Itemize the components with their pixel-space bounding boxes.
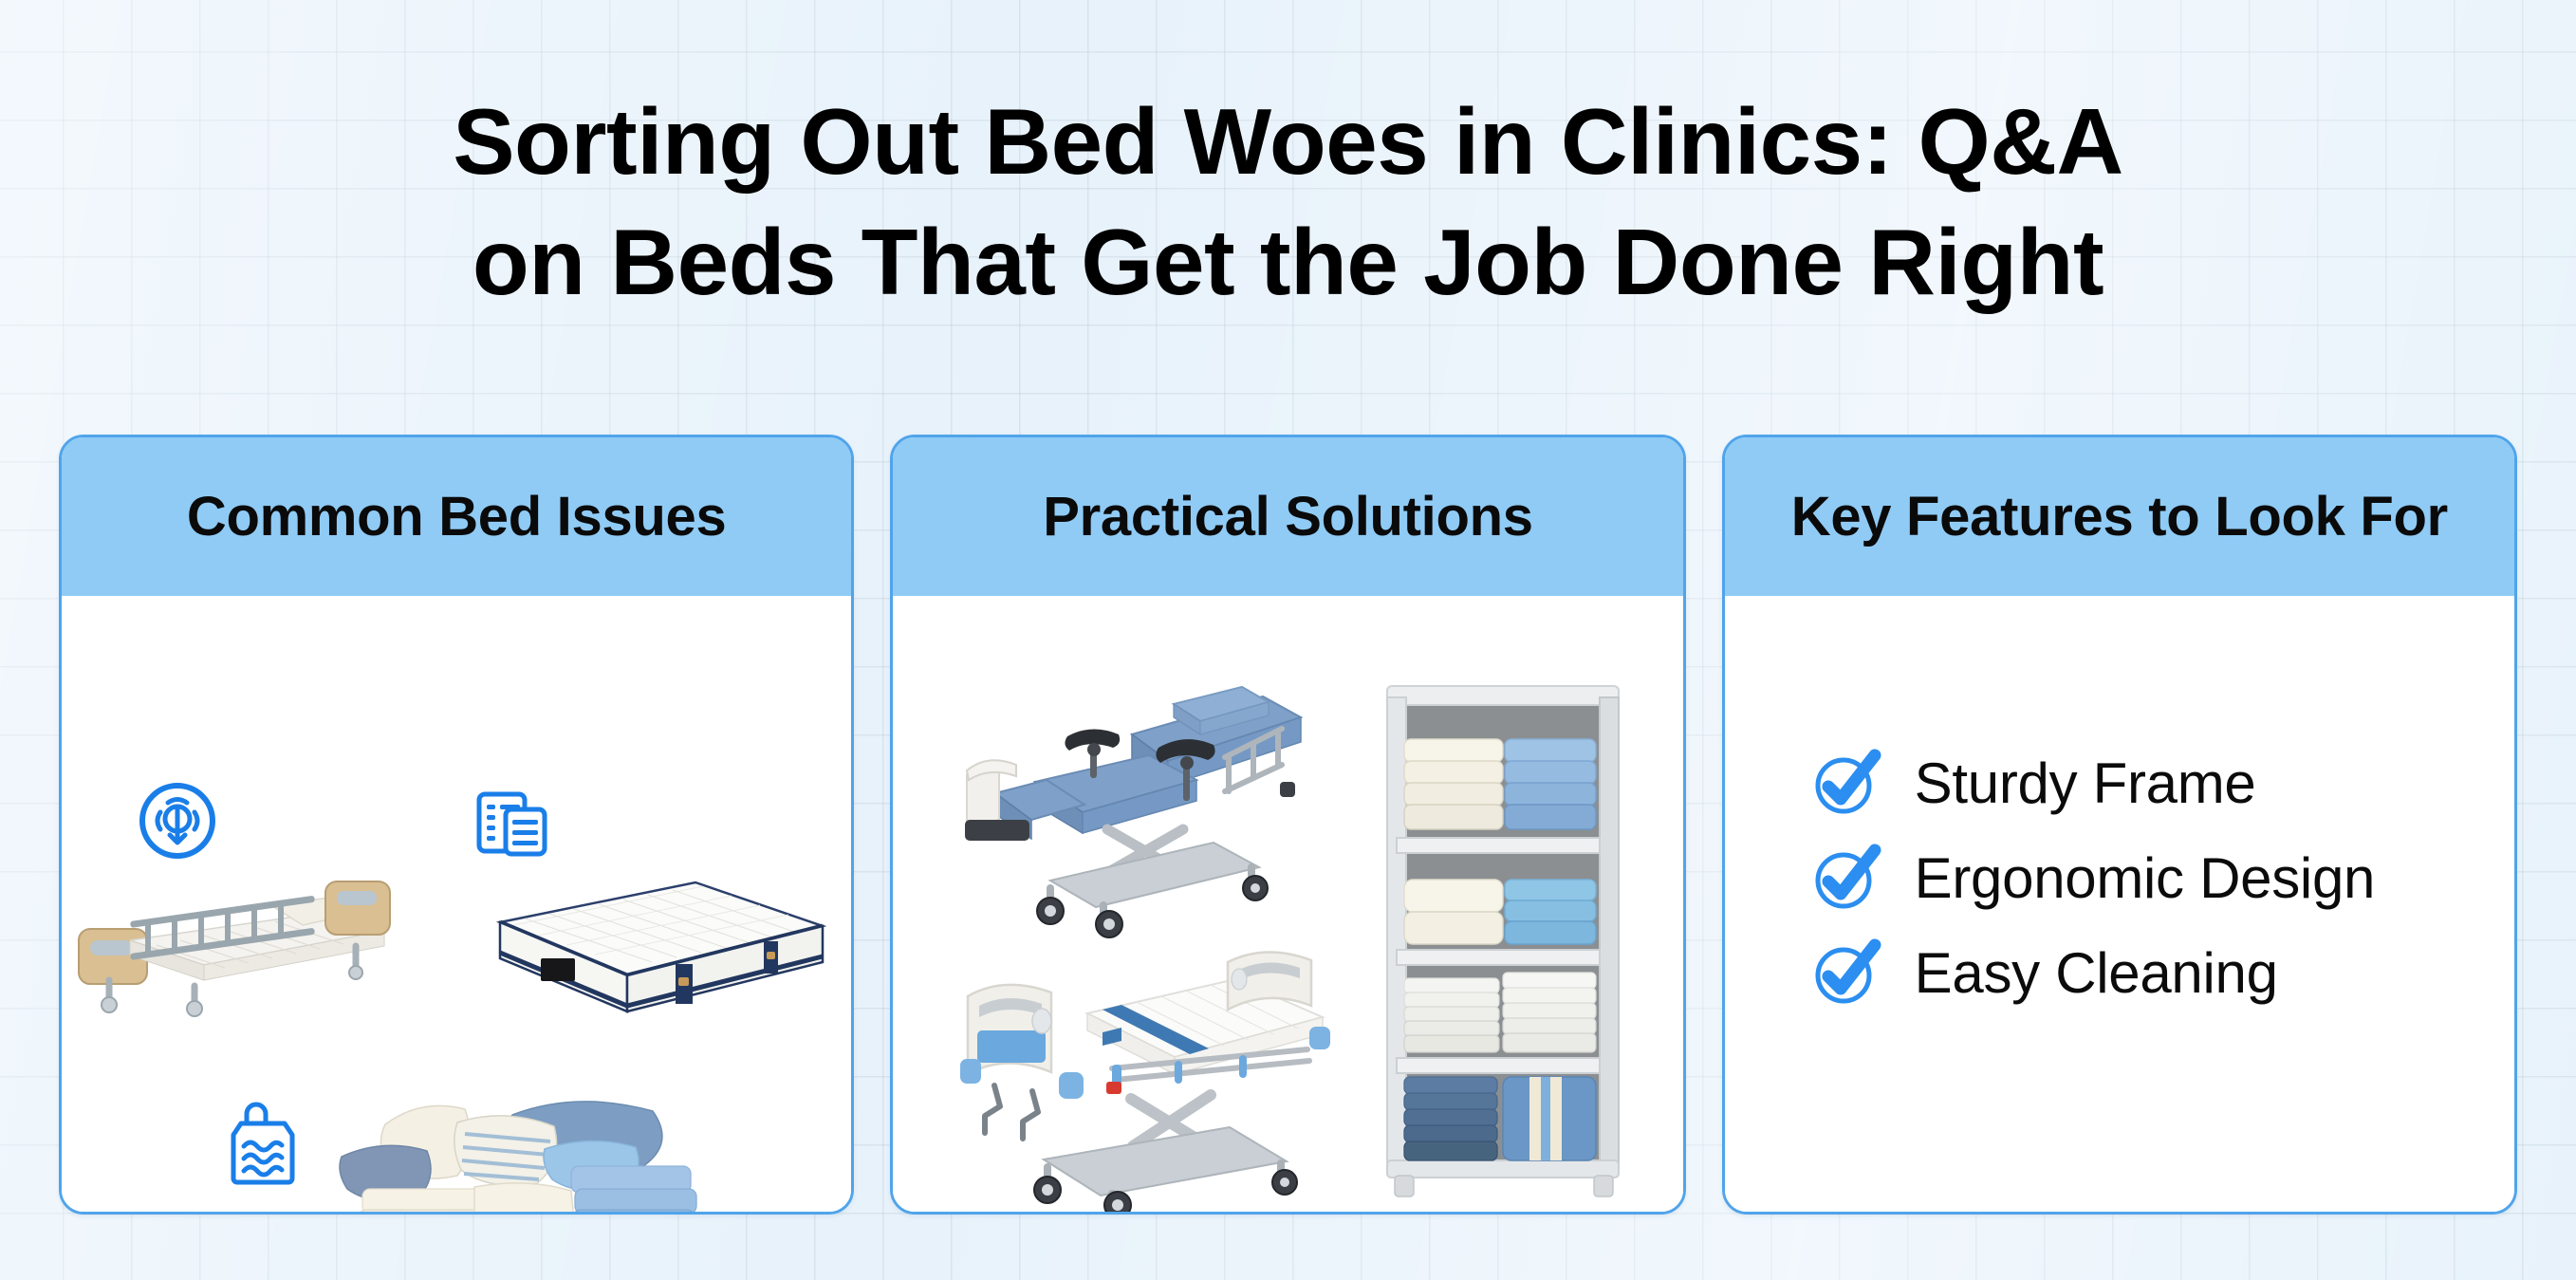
page-title-line-2: on Beds That Get the Job Done Right: [0, 202, 2576, 323]
card-body-key-features: Sturdy Frame Ergonomic Design: [1725, 596, 2514, 1212]
card-title: Common Bed Issues: [187, 485, 727, 548]
height-adjust-circle-icon: [138, 781, 217, 861]
card-title: Practical Solutions: [1043, 485, 1532, 548]
feature-item-sturdy-frame: Sturdy Frame: [1810, 748, 2375, 818]
card-header-practical-solutions: Practical Solutions: [893, 437, 1682, 596]
feature-label: Sturdy Frame: [1915, 751, 2256, 816]
card-body-practical-solutions: [893, 596, 1682, 1212]
card-body-common-bed-issues: [62, 596, 851, 1212]
feature-item-ergonomic-design: Ergonomic Design: [1810, 843, 2375, 913]
card-title: Key Features to Look For: [1791, 485, 2448, 548]
check-circle-icon: [1810, 843, 1881, 913]
white-blue-hospital-bed-image: [926, 947, 1372, 1213]
linen-storage-shelf-image: [1362, 648, 1666, 1215]
page-title-line-1: Sorting Out Bed Woes in Clinics: Q&A: [0, 82, 2576, 202]
feature-label: Easy Cleaning: [1915, 940, 2278, 1006]
quilted-mattress-image: [451, 871, 840, 1047]
feature-label: Ergonomic Design: [1915, 845, 2375, 911]
feature-list: Sturdy Frame Ergonomic Design: [1810, 748, 2375, 1008]
page-title: Sorting Out Bed Woes in Clinics: Q&A on …: [0, 82, 2576, 324]
card-header-key-features: Key Features to Look For: [1725, 437, 2514, 596]
laundry-care-tag-icon: [228, 1108, 298, 1188]
document-checklist-icon: [474, 790, 548, 859]
blue-examination-bed-image: [929, 662, 1327, 937]
card-header-common-bed-issues: Common Bed Issues: [62, 437, 851, 596]
feature-item-easy-cleaning: Easy Cleaning: [1810, 937, 2375, 1008]
card-common-bed-issues: Common Bed Issues: [59, 435, 854, 1215]
card-row: Common Bed Issues: [59, 435, 2517, 1215]
check-circle-icon: [1810, 748, 1881, 818]
pillows-and-linens-image: [323, 1085, 740, 1215]
card-key-features: Key Features to Look For Sturdy Frame: [1722, 435, 2517, 1215]
check-circle-icon: [1810, 937, 1881, 1008]
card-practical-solutions: Practical Solutions: [890, 435, 1685, 1215]
wooden-hospital-bed-image: [71, 838, 403, 1018]
infographic-canvas: Sorting Out Bed Woes in Clinics: Q&A on …: [0, 0, 2576, 1280]
